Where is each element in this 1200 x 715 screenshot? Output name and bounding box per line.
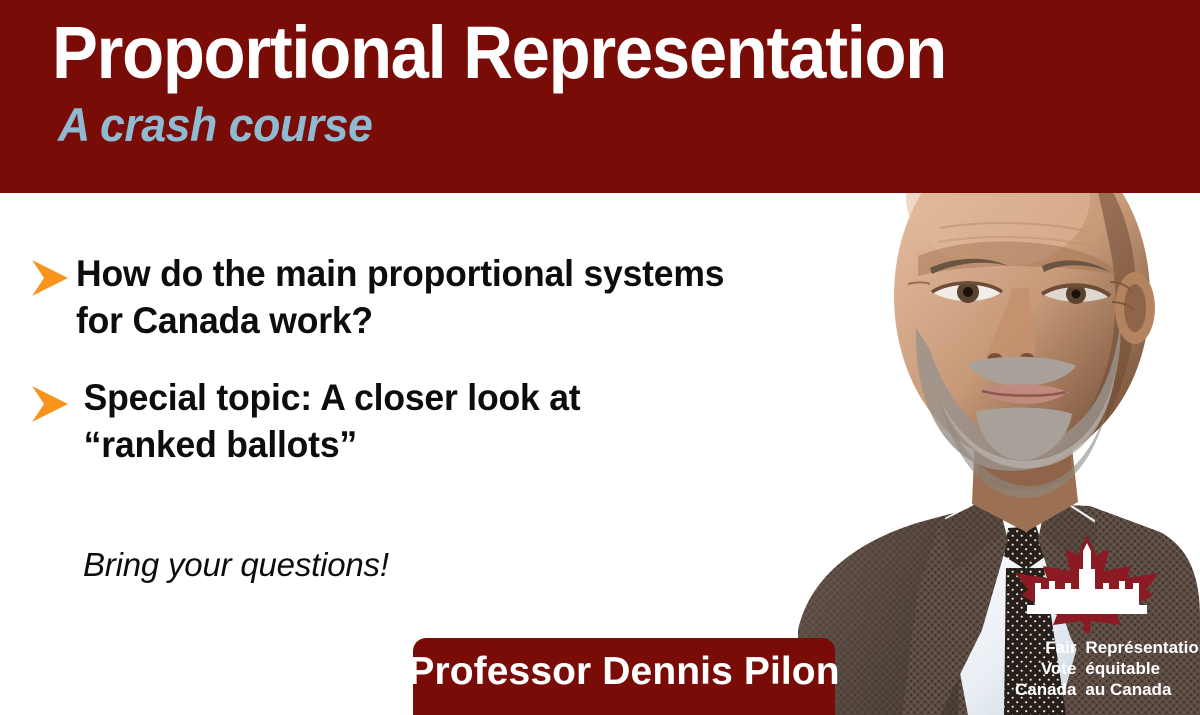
logo-wordmark-french: Représentation équitable au Canada bbox=[1085, 637, 1200, 700]
orange-arrow-icon bbox=[28, 384, 76, 424]
logo-line: Représentation bbox=[1085, 637, 1200, 658]
speaker-name-banner: Professor Dennis Pilon bbox=[413, 638, 835, 715]
maple-leaf-parliament-icon bbox=[1013, 533, 1161, 633]
bullet-line: “ranked ballots” bbox=[84, 421, 581, 468]
tagline-text: Bring your questions! bbox=[83, 545, 389, 585]
bullet-line: Special topic: A closer look at bbox=[84, 374, 581, 421]
list-item: How do the main proportional systems for… bbox=[0, 250, 830, 344]
logo-wordmark-english: Fair Vote Canada bbox=[1015, 637, 1076, 700]
logo-wordmark: Fair Vote Canada Représentation équitabl… bbox=[1005, 637, 1195, 700]
bullet-line: How do the main proportional systems bbox=[76, 250, 724, 297]
logo-line: équitable bbox=[1085, 658, 1200, 679]
speaker-name-label: Professor Dennis Pilon bbox=[408, 638, 839, 698]
logo-line: Vote bbox=[1015, 658, 1076, 679]
logo-line: Fair bbox=[1015, 637, 1076, 658]
orange-arrow-icon bbox=[28, 258, 76, 298]
poster-canvas: Proportional Representation A crash cour… bbox=[0, 0, 1200, 715]
header-band: Proportional Representation A crash cour… bbox=[0, 0, 1200, 193]
page-title: Proportional Representation bbox=[52, 10, 946, 96]
fair-vote-canada-logo: Fair Vote Canada Représentation équitabl… bbox=[1005, 533, 1195, 700]
bullet-text-1: How do the main proportional systems for… bbox=[76, 250, 724, 344]
bullet-list: How do the main proportional systems for… bbox=[0, 250, 830, 498]
logo-line: Canada bbox=[1015, 679, 1076, 700]
list-item: Special topic: A closer look at “ranked … bbox=[0, 374, 830, 468]
logo-line: au Canada bbox=[1085, 679, 1200, 700]
bullet-text-2: Special topic: A closer look at “ranked … bbox=[76, 374, 580, 468]
page-subtitle: A crash course bbox=[58, 97, 372, 153]
bullet-line: for Canada work? bbox=[76, 297, 724, 344]
